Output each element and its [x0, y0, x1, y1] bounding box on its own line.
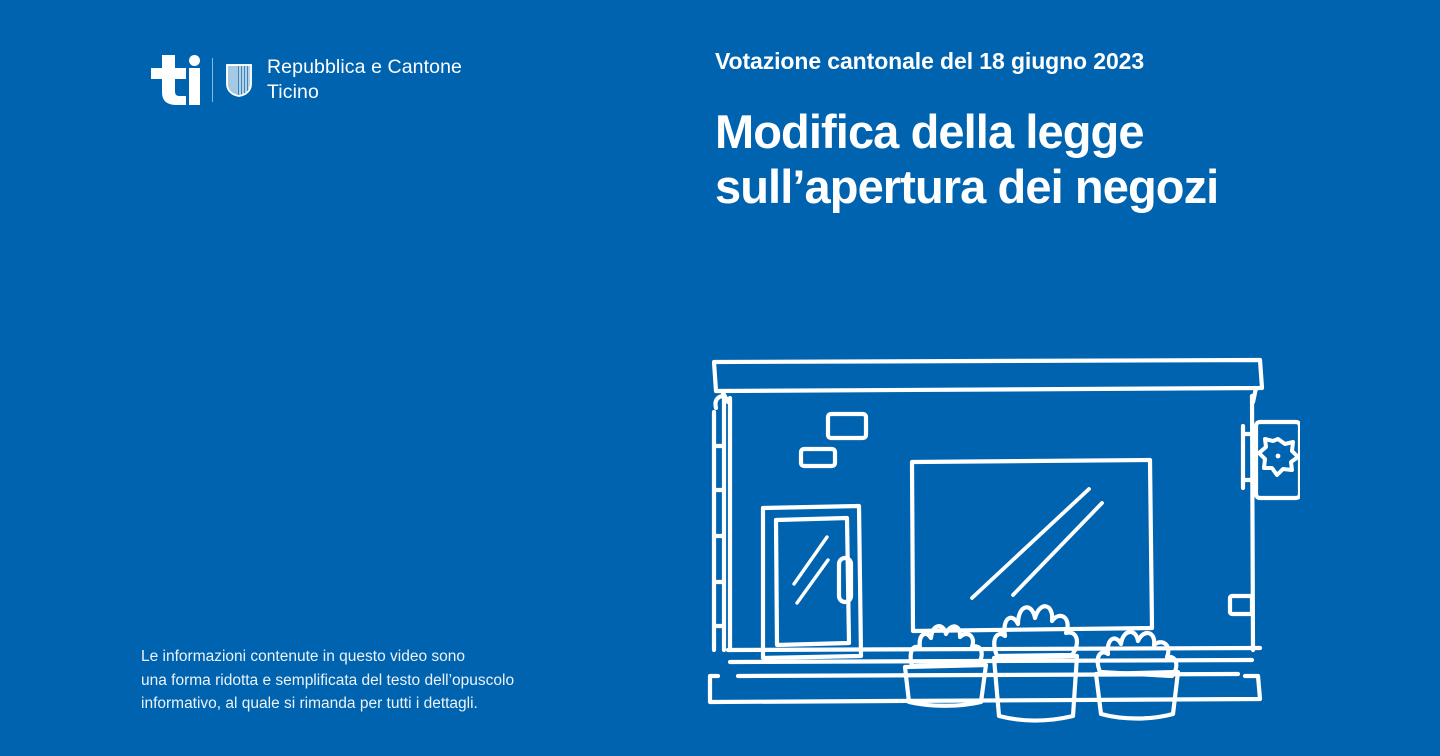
wall-vent — [1230, 596, 1252, 614]
wall-plaque-large — [828, 414, 866, 438]
logo-text: Repubblica e Cantone Ticino — [267, 55, 462, 105]
ti-logo-icon — [148, 55, 200, 105]
roof-awning — [714, 360, 1262, 402]
door-glass-reflection — [794, 537, 828, 603]
canton-ticino-logo: Repubblica e Cantone Ticino — [148, 52, 462, 108]
slide-canvas: Repubblica e Cantone Ticino Votazione ca… — [0, 0, 1440, 756]
door-handle — [839, 558, 851, 602]
vote-kicker: Votazione cantonale del 18 giugno 2023 — [715, 48, 1355, 76]
page-title: Modifica della legge sull’apertura dei n… — [715, 104, 1355, 215]
potted-plant-left — [905, 626, 986, 706]
shop-door — [763, 506, 861, 658]
shop-window — [912, 460, 1152, 631]
potted-plant-center — [994, 606, 1077, 720]
wall-plaque-small — [801, 449, 835, 466]
headline-area: Votazione cantonale del 18 giugno 2023 M… — [715, 48, 1355, 215]
potted-plant-right — [1096, 632, 1178, 719]
window-reflection — [972, 489, 1102, 598]
logo-divider — [212, 58, 213, 102]
disclaimer-text: Le informazioni contenute in questo vide… — [141, 645, 611, 716]
ticino-coat-of-arms-icon — [226, 64, 252, 97]
shop-building-body — [730, 396, 1253, 650]
shop-storefront-illustration — [700, 350, 1300, 756]
drainpipe — [714, 396, 724, 650]
